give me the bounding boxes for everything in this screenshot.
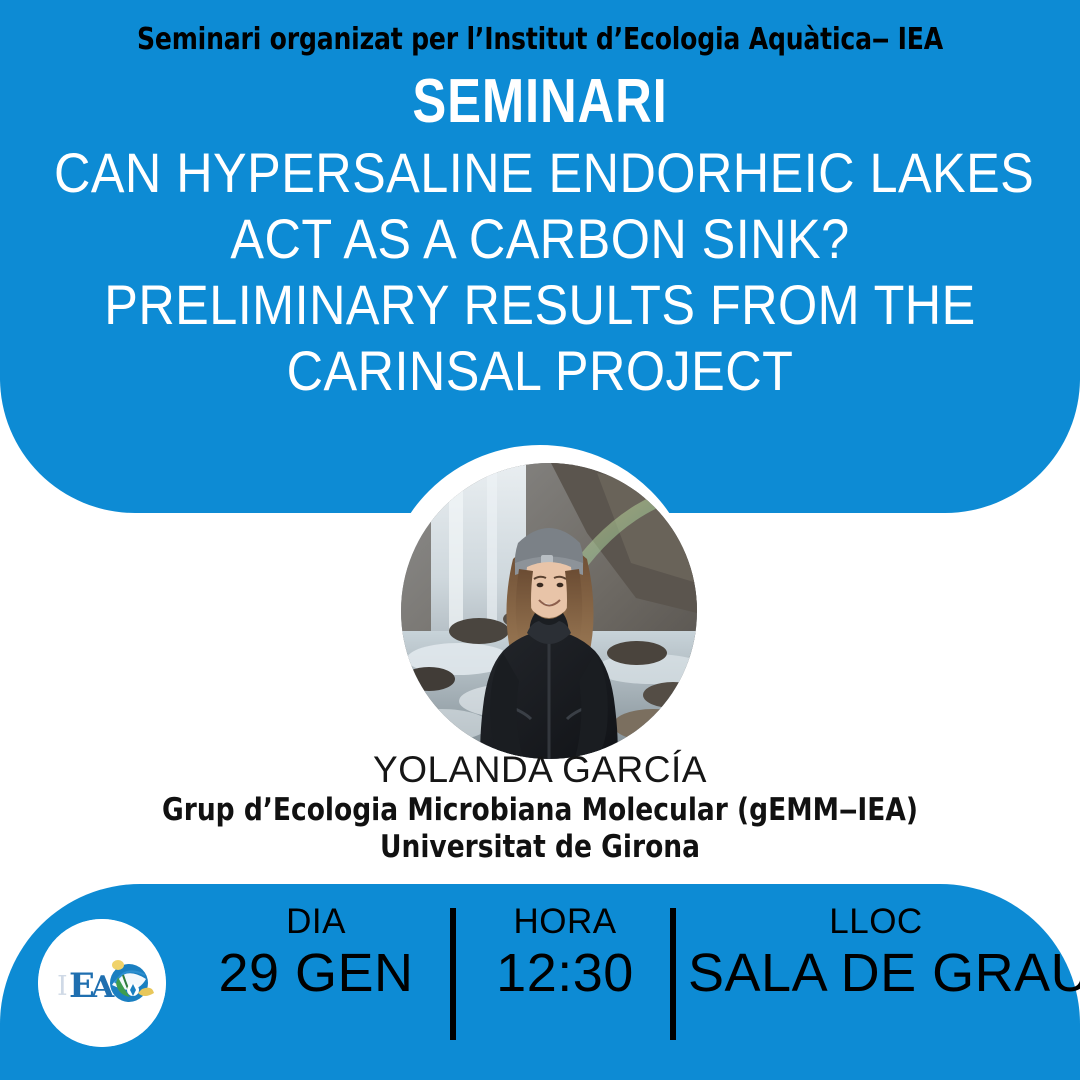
dia-label: DIA — [196, 902, 436, 942]
talk-title-line-2: ACT AS A CARBON SINK? — [54, 206, 1026, 272]
hora-value: 12:30 — [470, 942, 660, 1004]
footer-divider-1 — [450, 908, 456, 1040]
speaker-portrait-illustration — [401, 463, 697, 759]
organizer-line: Seminari organizat per l’Institut d’Ecol… — [38, 22, 1042, 57]
speaker-photo-frame — [383, 445, 697, 759]
seminar-kicker: SEMINARI — [97, 66, 983, 137]
iea-logo-icon: I E A — [38, 919, 166, 1047]
speaker-name: YOLANDA GARCÍA — [0, 748, 1080, 792]
iea-logo: I E A — [38, 919, 166, 1047]
speaker-details: YOLANDA GARCÍA Grup d’Ecologia Microbian… — [0, 748, 1080, 866]
speaker-photo — [401, 463, 697, 759]
talk-title-line-1: CAN HYPERSALINE ENDORHEIC LAKES — [54, 140, 1026, 206]
speaker-institution: Universitat de Girona — [27, 829, 1053, 866]
footer-column-dia: DIA 29 GEN — [196, 902, 436, 1004]
footer-column-lloc: LLOC SALA DE GRAUS — [688, 902, 1064, 1004]
lloc-label: LLOC — [688, 902, 1064, 942]
footer-column-hora: HORA 12:30 — [470, 902, 660, 1004]
talk-title-line-3: PRELIMINARY RESULTS FROM THE — [54, 272, 1026, 338]
footer-divider-2 — [670, 908, 676, 1040]
svg-text:I: I — [57, 971, 68, 1002]
talk-title: CAN HYPERSALINE ENDORHEIC LAKES ACT AS A… — [54, 140, 1026, 404]
talk-title-line-4: CARINSAL PROJECT — [54, 338, 1026, 404]
speaker-research-group: Grup d’Ecologia Microbiana Molecular (gE… — [27, 792, 1053, 829]
lloc-value: SALA DE GRAUS — [688, 942, 1064, 1004]
header-panel: Seminari organizat per l’Institut d’Ecol… — [0, 0, 1080, 513]
seminar-poster: Seminari organizat per l’Institut d’Ecol… — [0, 0, 1080, 1080]
hora-label: HORA — [470, 902, 660, 942]
dia-value: 29 GEN — [196, 942, 436, 1004]
